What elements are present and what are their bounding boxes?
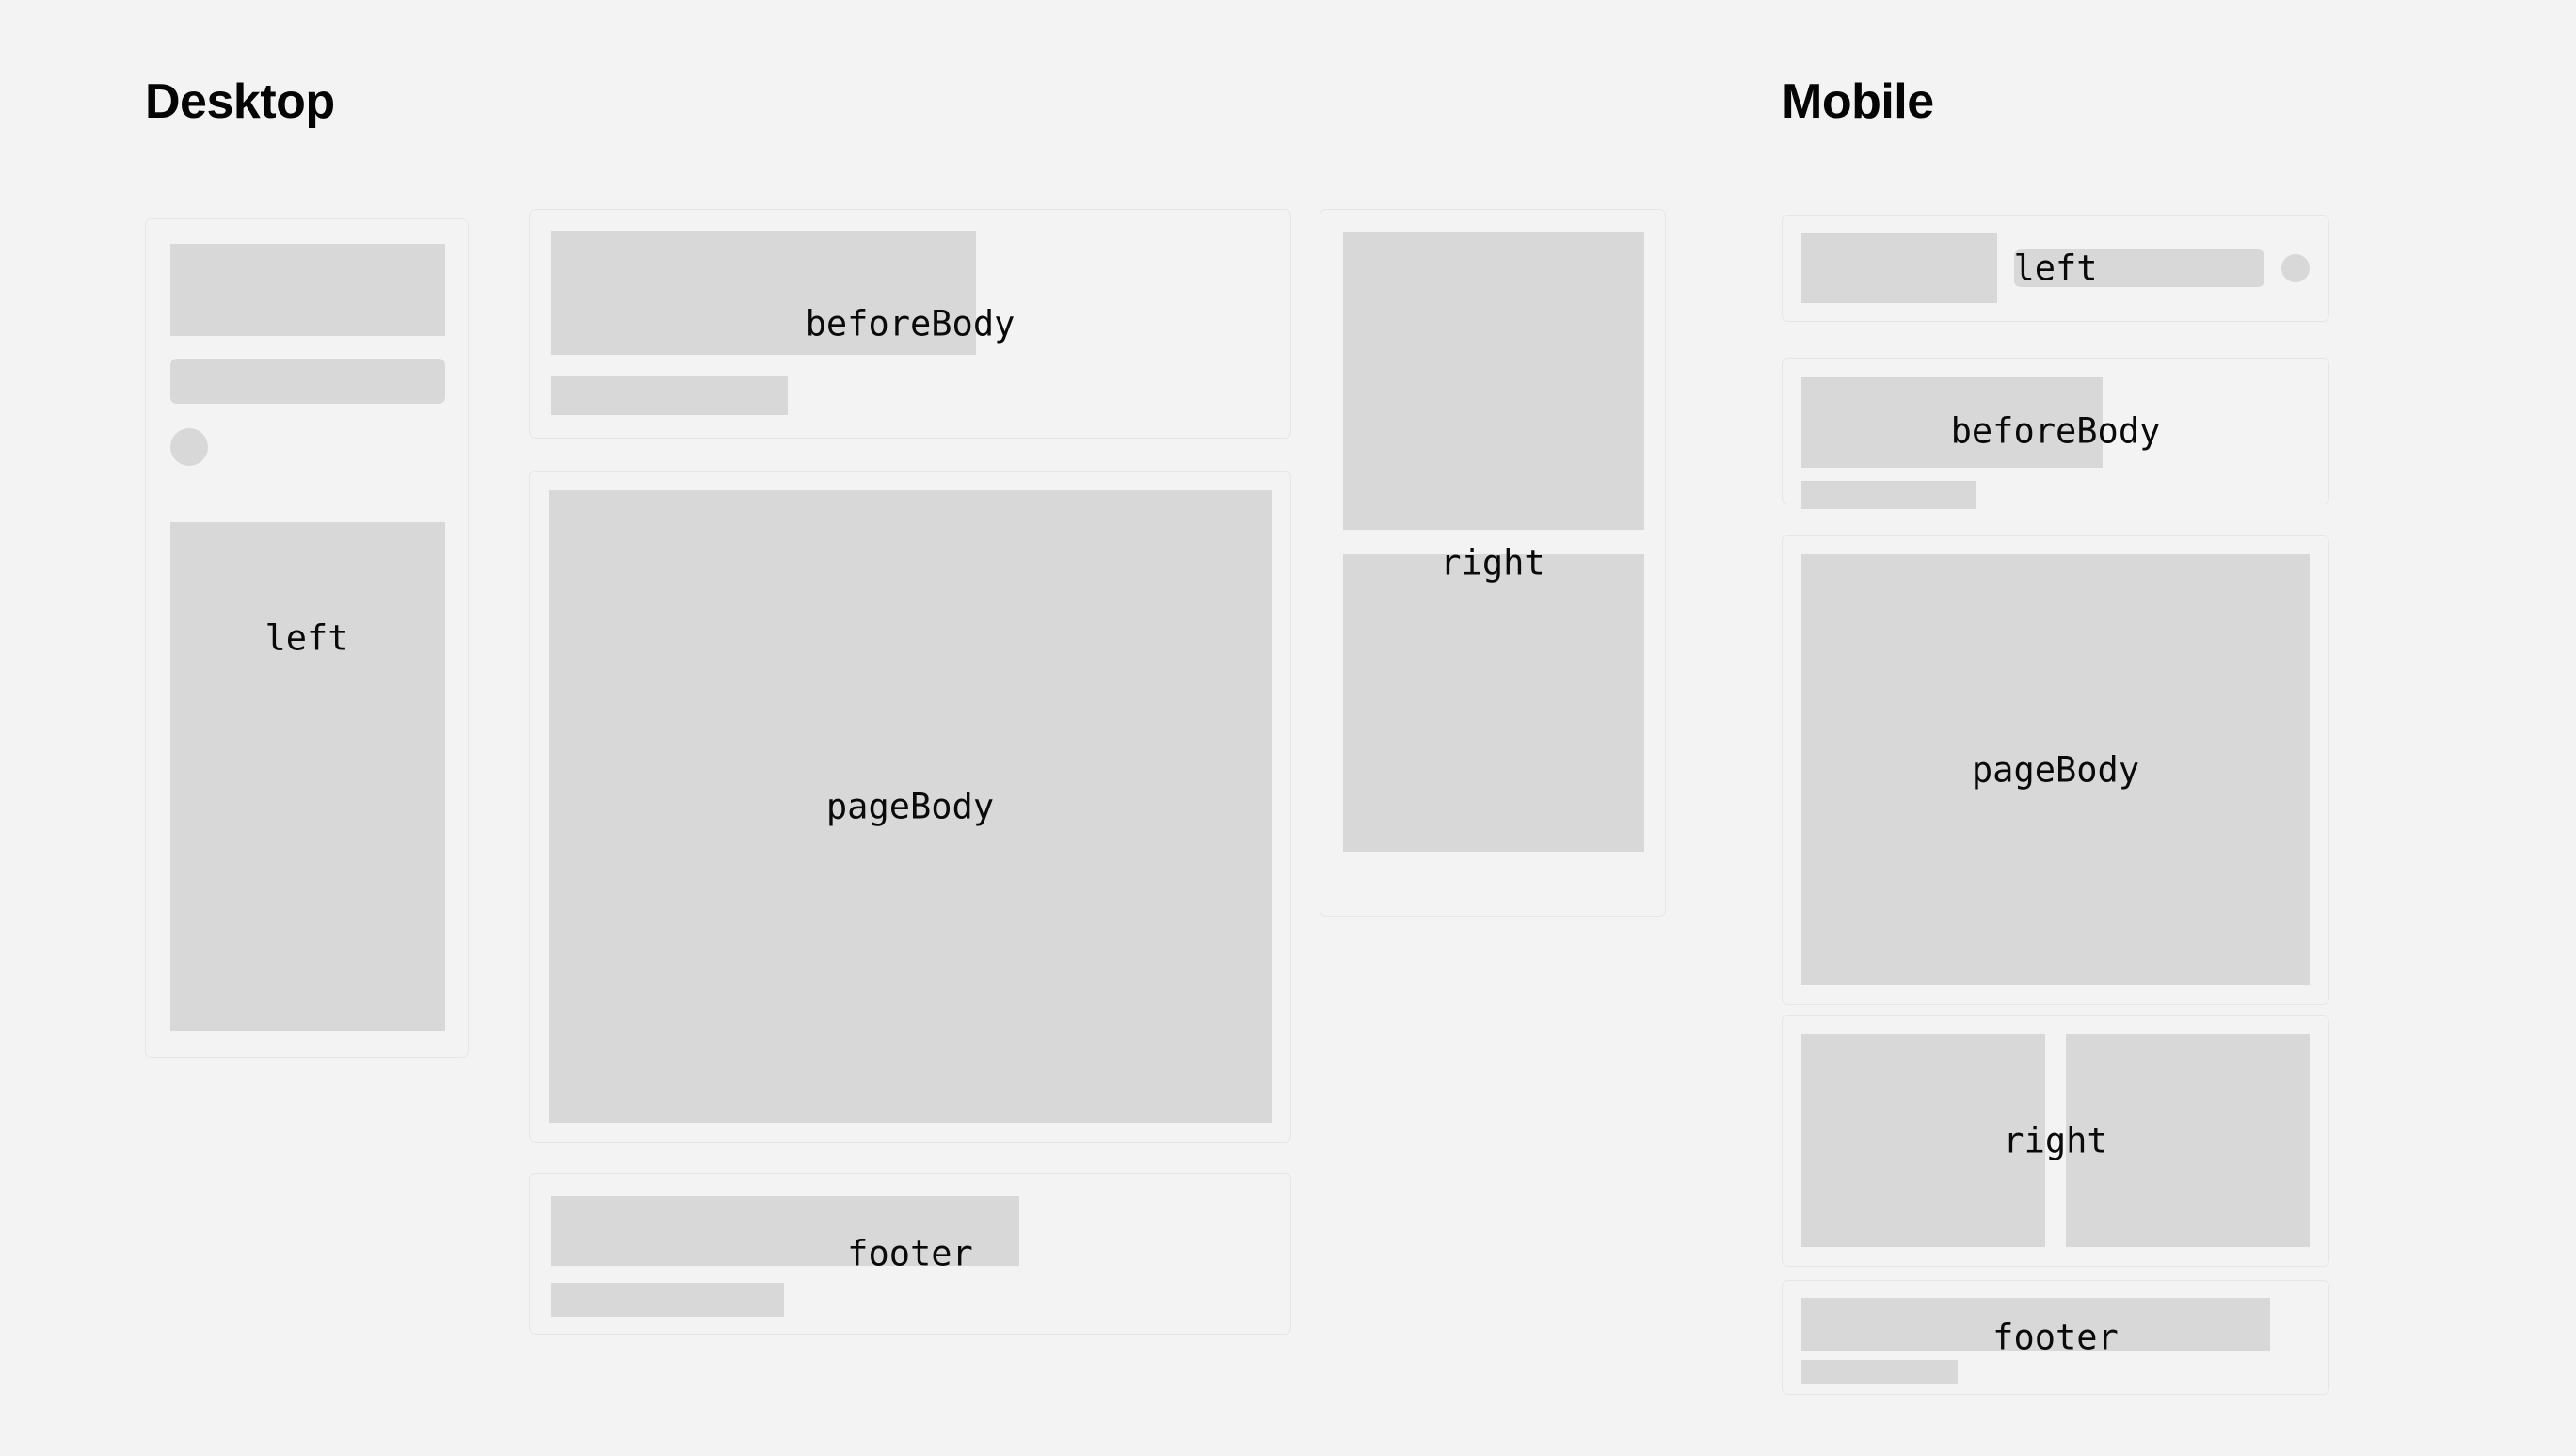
desktop-section-title: Desktop <box>145 77 335 126</box>
skeleton-bar <box>551 1283 784 1317</box>
mobile-slot-footer-panel[interactable]: footer <box>1782 1280 2329 1395</box>
desktop-slot-left-panel[interactable]: left <box>145 218 469 1058</box>
desktop-slot-right-panel[interactable]: right <box>1320 209 1666 917</box>
mobile-slot-left-panel[interactable]: left <box>1782 215 2329 322</box>
skeleton-bar <box>2014 249 2264 287</box>
mobile-section-title: Mobile <box>1782 77 1934 126</box>
desktop-slot-beforebody-panel[interactable]: beforeBody <box>529 209 1291 439</box>
mobile-slot-pagebody-panel[interactable]: pageBody <box>1782 535 2329 1005</box>
desktop-slot-pagebody-panel[interactable]: pageBody <box>529 471 1291 1143</box>
skeleton-block-tall <box>170 522 445 1031</box>
skeleton-block <box>1801 1034 2045 1247</box>
skeleton-block <box>1343 232 1644 530</box>
mobile-right-row <box>1801 1034 2310 1247</box>
skeleton-block <box>1801 233 1997 303</box>
skeleton-block-large <box>1801 554 2310 985</box>
skeleton-block <box>551 1196 1019 1266</box>
skeleton-block <box>551 231 976 355</box>
desktop-slot-footer-panel[interactable]: footer <box>529 1173 1291 1335</box>
skeleton-bar <box>170 359 445 404</box>
mobile-slot-beforebody-panel[interactable]: beforeBody <box>1782 358 2329 504</box>
skeleton-bar <box>1801 1360 1958 1384</box>
skeleton-block <box>2066 1034 2310 1247</box>
skeleton-block <box>1343 554 1644 852</box>
skeleton-block <box>170 244 445 336</box>
mobile-slot-right-panel[interactable]: right <box>1782 1015 2329 1267</box>
layout-preview-stage: Desktop Mobile left beforeBody pageBody … <box>0 0 2576 1456</box>
avatar-circle-icon <box>170 428 208 466</box>
skeleton-block <box>1801 1298 2270 1351</box>
skeleton-bar <box>551 376 788 415</box>
skeleton-bar <box>1801 481 1976 509</box>
avatar-circle-icon <box>2281 254 2310 282</box>
skeleton-block-large <box>549 490 1272 1123</box>
mobile-left-row <box>1801 234 2310 302</box>
skeleton-block <box>1801 377 2103 468</box>
